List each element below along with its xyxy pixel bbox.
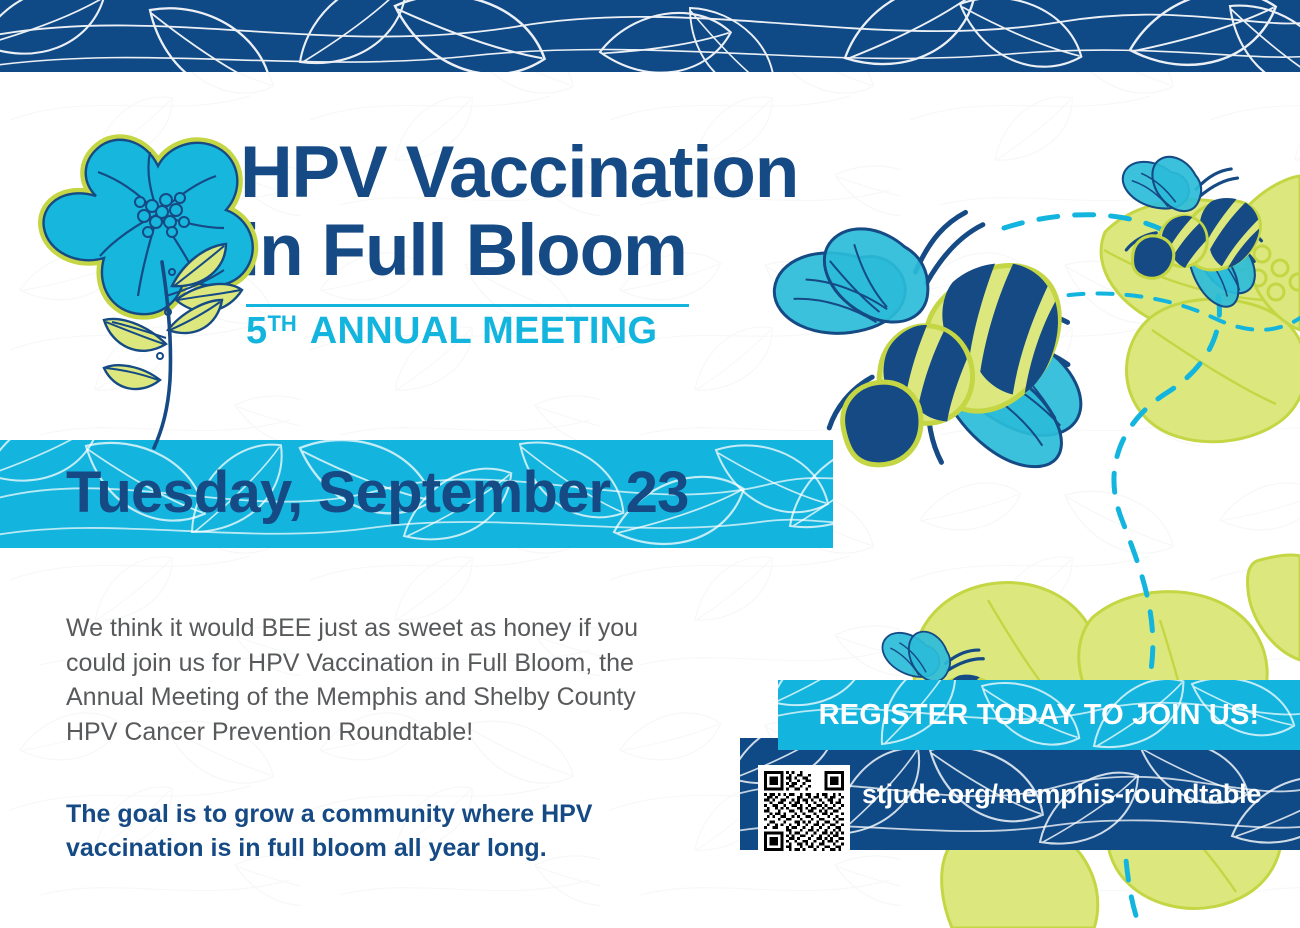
title-line-1: HPV Vaccination [240,138,798,209]
subtitle: 5 TH ANNUAL MEETING [246,310,798,353]
qr-code[interactable] [758,765,850,857]
register-button[interactable]: REGISTER TODAY TO JOIN US! [778,680,1300,750]
flyer-canvas: HPV Vaccination in Full Bloom 5 TH ANNUA… [0,0,1300,928]
cta-url-text[interactable]: stjude.org/memphis-roundtable [862,738,1300,850]
top-navy-band [0,0,1300,72]
tagline: The goal is to grow a community where HP… [66,797,686,865]
leaf-pattern-icon [0,0,1300,72]
title-line-2: in Full Bloom [240,216,798,287]
page-title: HPV Vaccination in Full Bloom 5 TH ANNUA… [240,138,798,353]
ordinal-number: 5 [246,310,267,353]
date-text: Tuesday, September 23 [66,459,689,526]
date-banner: Tuesday, September 23 [0,440,833,548]
qr-code-icon [764,771,844,851]
title-divider [246,304,689,307]
body-paragraph: We think it would BEE just as sweet as h… [66,611,666,749]
subtitle-text: ANNUAL MEETING [310,310,658,353]
register-label[interactable]: REGISTER TODAY TO JOIN US! [778,680,1300,750]
ordinal-suffix: TH [267,313,296,335]
